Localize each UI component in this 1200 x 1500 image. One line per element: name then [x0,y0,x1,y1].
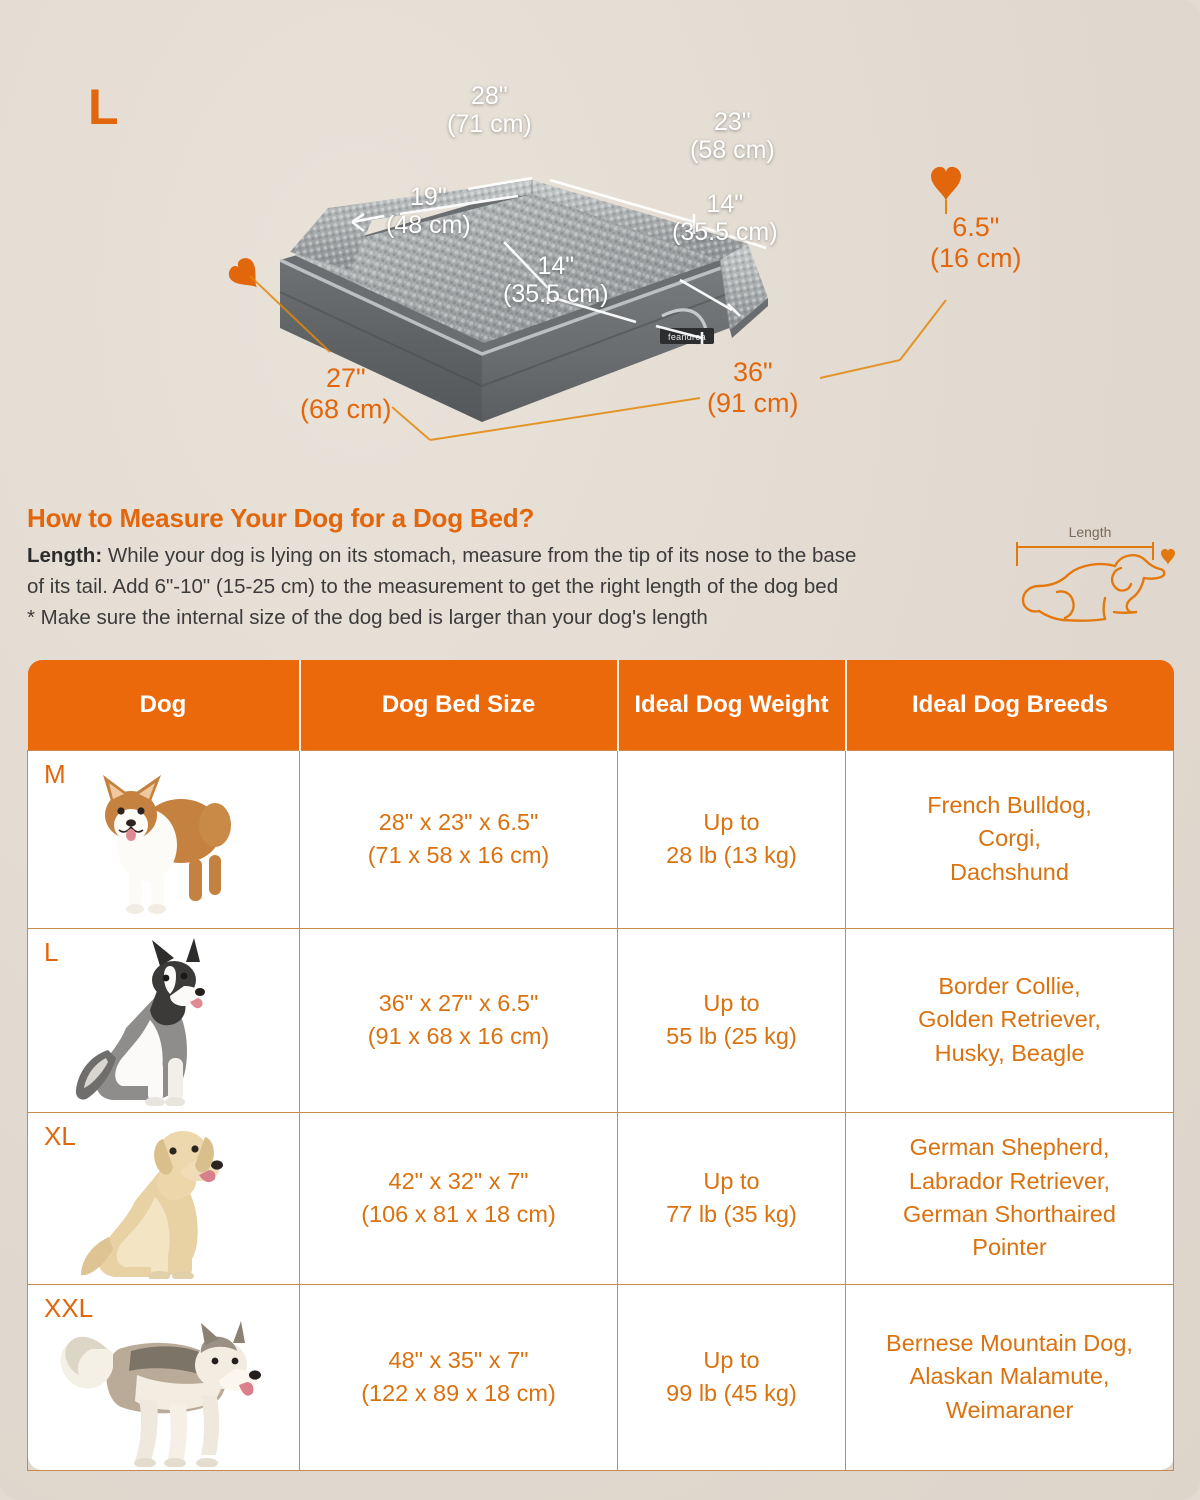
dimension-overall-width: 36" (91 cm) [707,357,799,419]
size-tag-xxl: XXL [44,1295,93,1321]
weight-line2-xxl: 99 lb (45 kg) [618,1377,845,1410]
length-diagram-label: Length [1069,524,1112,540]
breed-line: Labrador Retriever, [846,1165,1173,1198]
measure-line-1-text: While your dog is lying on its stomach, … [102,544,856,567]
breed-line: German Shorthaired [846,1198,1173,1231]
breed-line: Alaskan Malamute, [846,1360,1173,1393]
measure-heading: How to Measure Your Dog for a Dog Bed? [27,503,534,534]
dog-photo-border-collie [28,934,299,1106]
weight-line1-m: Up to [618,806,845,839]
breed-line: Corgi, [846,822,1173,855]
col-header-dog: Dog [28,660,300,750]
breed-line: Dachshund [846,856,1173,889]
dog-cell-xl: XL [28,1112,300,1284]
heart-marker-right [931,167,961,202]
bed-size-cm-xl: (106 x 81 x 18 cm) [300,1198,617,1231]
length-label: Length: [27,544,102,567]
bed-size-in-m: 28" x 23" x 6.5" [300,806,617,839]
size-tag-l: L [44,939,58,965]
size-chart-table-wrap: Dog Dog Bed Size Ideal Dog Weight Ideal … [27,660,1173,1471]
measure-line-2: of its tail. Add 6"-10" (15-25 cm) to th… [27,572,977,603]
breeds-cell-xl: German Shepherd, Labrador Retriever, Ger… [846,1112,1174,1284]
breed-line: Border Collie, [846,970,1173,1003]
size-chart-table: Dog Dog Bed Size Ideal Dog Weight Ideal … [27,660,1174,1471]
bed-size-cell-xl: 42" x 32" x 7" (106 x 81 x 18 cm) [300,1112,618,1284]
heart-icon [1161,549,1175,565]
bed-size-in-l: 36" x 27" x 6.5" [300,987,617,1020]
dimension-inner-front: 14" (35.5 cm) [503,252,609,308]
dimension-overall-height: 6.5" (16 cm) [930,212,1022,274]
col-header-weight: Ideal Dog Weight [618,660,846,750]
breed-line: Husky, Beagle [846,1037,1173,1070]
table-row: M [28,750,1174,928]
weight-cell-xl: Up to 77 lb (35 kg) [618,1112,846,1284]
measure-line-1: Length: While your dog is lying on its s… [27,541,977,572]
breeds-cell-xxl: Bernese Mountain Dog, Alaskan Malamute, … [846,1284,1174,1470]
hero-product-diagram: L [0,0,1200,480]
breeds-cell-l: Border Collie, Golden Retriever, Husky, … [846,928,1174,1112]
weight-line2-xl: 77 lb (35 kg) [618,1198,845,1231]
table-header-row: Dog Dog Bed Size Ideal Dog Weight Ideal … [28,660,1174,750]
breed-line: Pointer [846,1231,1173,1264]
dog-photo-corgi [28,759,299,919]
col-header-bed-size: Dog Bed Size [300,660,618,750]
bed-size-cell-l: 36" x 27" x 6.5" (91 x 68 x 16 cm) [300,928,618,1112]
bed-size-cm-m: (71 x 58 x 16 cm) [300,839,617,872]
weight-line1-l: Up to [618,987,845,1020]
col-header-breeds: Ideal Dog Breeds [846,660,1174,750]
dog-cell-m: M [28,750,300,928]
bed-size-cell-xxl: 48" x 35" x 7" (122 x 89 x 18 cm) [300,1284,618,1470]
bed-size-cell-m: 28" x 23" x 6.5" (71 x 58 x 16 cm) [300,750,618,928]
breed-line: German Shepherd, [846,1131,1173,1164]
measure-body: Length: While your dog is lying on its s… [27,541,977,633]
weight-line2-l: 55 lb (25 kg) [618,1020,845,1053]
breeds-cell-m: French Bulldog, Corgi, Dachshund [846,750,1174,928]
dog-length-diagram: Length [995,520,1185,635]
weight-line2-m: 28 lb (13 kg) [618,839,845,872]
weight-line1-xl: Up to [618,1165,845,1198]
dimension-inner-right: 14" (35.5 cm) [672,190,778,246]
weight-cell-xxl: Up to 99 lb (45 kg) [618,1284,846,1470]
size-tag-xl: XL [44,1123,76,1149]
weight-cell-l: Up to 55 lb (25 kg) [618,928,846,1112]
table-row: XXL [28,1284,1174,1470]
dimension-top-width: 28" (71 cm) [447,82,532,138]
weight-line1-xxl: Up to [618,1344,845,1377]
dimension-top-depth: 23" (58 cm) [690,108,775,164]
size-tag-m: M [44,761,66,787]
breed-line: French Bulldog, [846,789,1173,822]
table-row: L [28,928,1174,1112]
breed-line: Bernese Mountain Dog, [846,1327,1173,1360]
bed-size-cm-xxl: (122 x 89 x 18 cm) [300,1377,617,1410]
table-row: XL [28,1112,1174,1284]
weight-cell-m: Up to 28 lb (13 kg) [618,750,846,928]
dimension-overall-depth: 27" (68 cm) [300,363,392,425]
size-badge: L [88,82,119,132]
dog-cell-l: L [28,928,300,1112]
breed-line: Golden Retriever, [846,1003,1173,1036]
dimension-inner-left: 19" (48 cm) [386,183,471,239]
bed-size-cm-l: (91 x 68 x 16 cm) [300,1020,617,1053]
infographic-page: L [0,0,1200,1500]
breed-line: Weimaraner [846,1394,1173,1427]
dog-cell-xxl: XXL [28,1284,300,1470]
bed-size-in-xl: 42" x 32" x 7" [300,1165,617,1198]
measure-line-3: * Make sure the internal size of the dog… [27,603,977,634]
bed-size-in-xxl: 48" x 35" x 7" [300,1344,617,1377]
